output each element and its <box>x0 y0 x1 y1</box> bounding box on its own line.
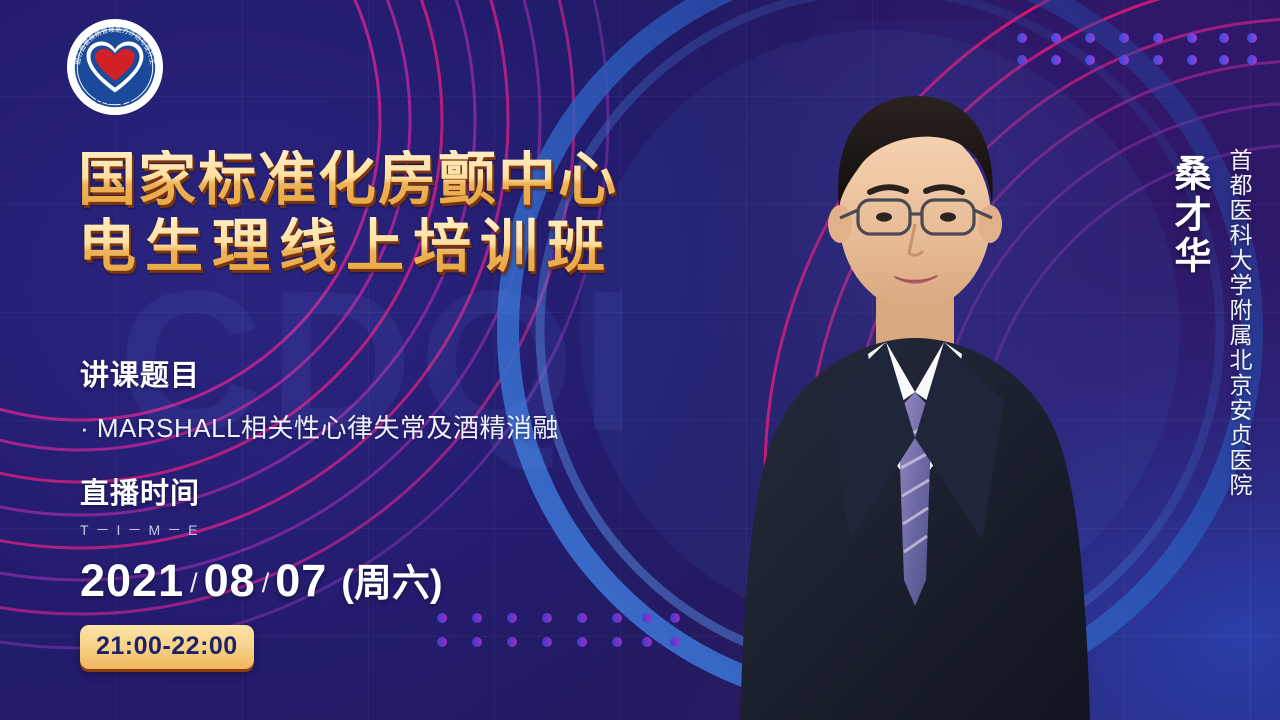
topic-heading: 讲课题目 <box>80 352 559 394</box>
topic-section: 讲课题目 · MARSHALL相关性心律失常及酒精消融 <box>80 352 559 445</box>
schedule-heading: 直播时间 <box>80 470 443 512</box>
speaker-portrait <box>700 20 1130 720</box>
speaker-organization: 首都医科大学附属北京安贞医院 <box>1222 148 1256 498</box>
schedule-time-badge: 21:00-22:00 <box>80 625 254 669</box>
cdqi-logo-acronym: CDQI <box>66 95 164 107</box>
schedule-section: 直播时间 T－I－M－E 2021 / 08 / 07 (周六) 21:00-2… <box>80 470 443 669</box>
poster-canvas: CDQI 全国心血管疾病管理能力评估与提升工程 CDQI <box>0 0 1280 720</box>
headline-line-2: 电生理线上培训班 <box>78 217 618 278</box>
dot-matrix-bottom-icon <box>432 608 692 668</box>
schedule-date-row: 2021 / 08 / 07 (周六) <box>80 552 443 607</box>
schedule-heading-en: T－I－M－E <box>80 520 443 540</box>
date-separator-2: / <box>262 568 270 599</box>
headline-line-1: 国家标准化房颤中心 <box>78 150 618 211</box>
topic-item: · MARSHALL相关性心律失常及酒精消融 <box>80 408 559 445</box>
schedule-month: 08 <box>204 555 256 607</box>
speaker-name: 桑才华 <box>1162 154 1216 277</box>
schedule-weekday: (周六) <box>341 552 442 607</box>
presenter-photo-icon <box>700 20 1130 720</box>
schedule-day: 07 <box>275 555 327 607</box>
cdqi-logo: 全国心血管疾病管理能力评估与提升工程 CDQI <box>66 18 164 116</box>
schedule-year: 2021 <box>80 555 184 607</box>
speaker-info: 桑才华 首都医科大学附属北京安贞医院 <box>1162 148 1280 488</box>
date-separator-1: / <box>190 568 198 599</box>
poster-headline: 国家标准化房颤中心 电生理线上培训班 <box>78 150 618 278</box>
